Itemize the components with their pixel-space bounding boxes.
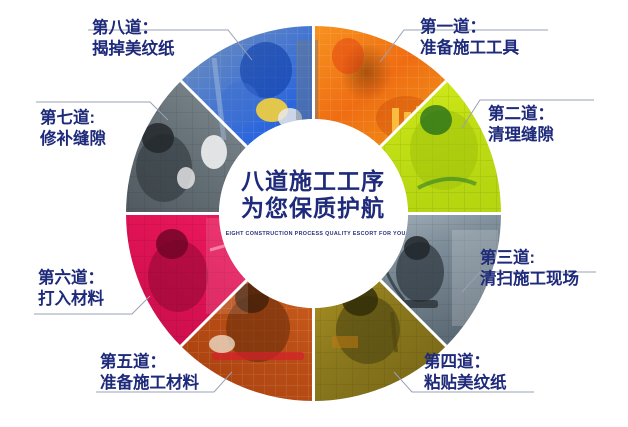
step-8-name: 揭掉美纹纸 [92, 39, 175, 60]
infographic-canvas: 八道施工工序 为您保质护航 EIGHT CONSTRUCTION PROCESS… [0, 0, 628, 427]
step-label-7[interactable]: 第七道: 修补缝隙 [40, 108, 106, 150]
center-hole [219, 119, 408, 308]
process-wheel-diagram [0, 0, 628, 427]
step-7-name: 修补缝隙 [40, 129, 106, 150]
step-3-name: 清扫施工现场 [480, 269, 579, 290]
step-5-number: 第五道： [100, 352, 199, 373]
step-2-name: 清理缝隙 [488, 125, 554, 146]
step-4-name: 粘贴美纹纸 [424, 373, 507, 394]
step-5-name: 准备施工材料 [100, 373, 199, 394]
step-label-8[interactable]: 第八道： 揭掉美纹纸 [92, 18, 175, 60]
step-3-number: 第三道: [480, 248, 579, 269]
step-8-number: 第八道： [92, 18, 175, 39]
step-7-number: 第七道: [40, 108, 106, 129]
step-2-number: 第二道： [488, 104, 554, 125]
step-label-5[interactable]: 第五道： 准备施工材料 [100, 352, 199, 394]
step-label-2[interactable]: 第二道： 清理缝隙 [488, 104, 554, 146]
step-label-6[interactable]: 第六道： 打入材料 [38, 268, 104, 310]
step-label-1[interactable]: 第一道： 准备施工工具 [420, 17, 519, 59]
step-6-name: 打入材料 [38, 289, 104, 310]
step-label-3[interactable]: 第三道: 清扫施工现场 [480, 248, 579, 290]
step-label-4[interactable]: 第四道： 粘贴美纹纸 [424, 352, 507, 394]
step-1-name: 准备施工工具 [420, 38, 519, 59]
step-4-number: 第四道： [424, 352, 507, 373]
step-1-number: 第一道： [420, 17, 519, 38]
step-6-number: 第六道： [38, 268, 104, 289]
